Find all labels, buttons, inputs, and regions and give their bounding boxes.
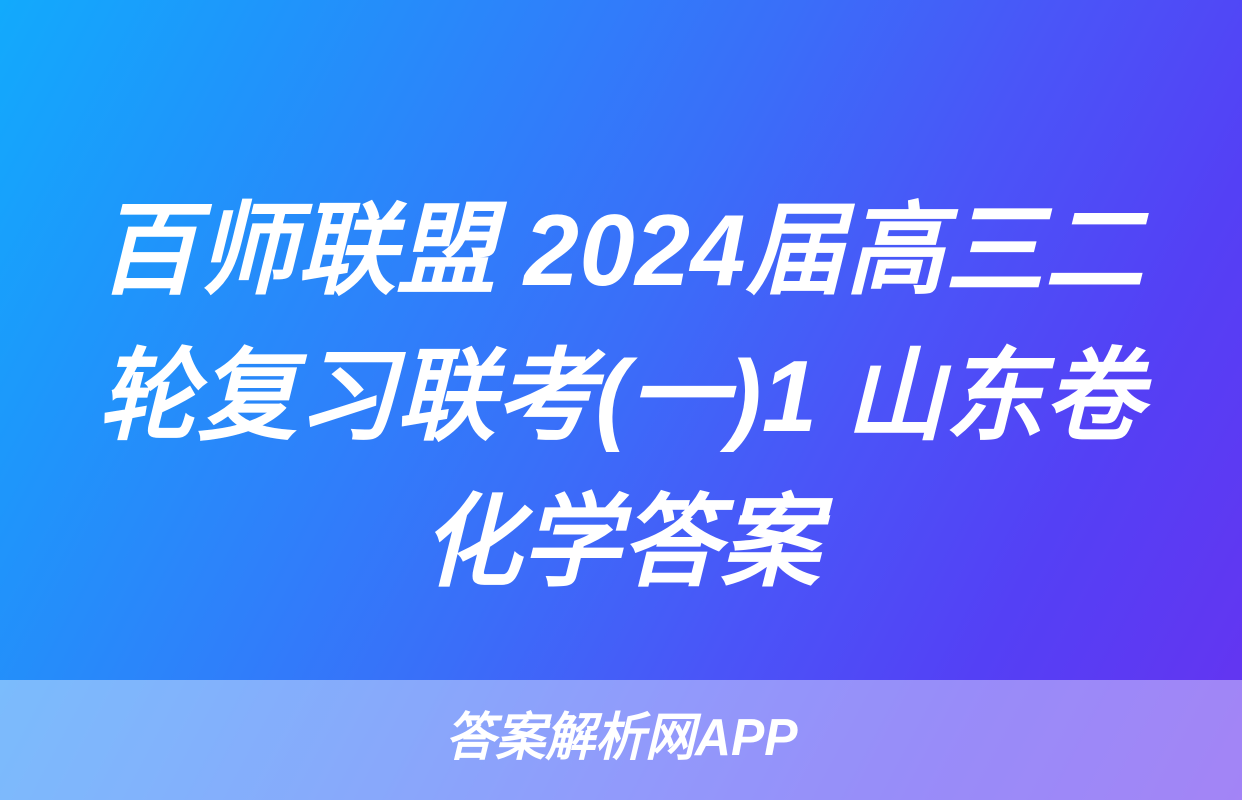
watermark-label: 答案解析网APP [445, 712, 797, 764]
title-line-2: 轮复习联考(一)1 山东卷 [12, 324, 1229, 470]
page-title: 百师联盟 2024届高三二 轮复习联考(一)1 山东卷 化学答案 [0, 178, 1242, 616]
title-card: 百师联盟 2024届高三二 轮复习联考(一)1 山东卷 化学答案 答案解析网AP… [0, 0, 1242, 800]
title-line-3: 化学答案 [12, 470, 1229, 616]
watermark-band: 答案解析网APP [0, 680, 1242, 800]
title-line-1: 百师联盟 2024届高三二 [12, 178, 1229, 324]
